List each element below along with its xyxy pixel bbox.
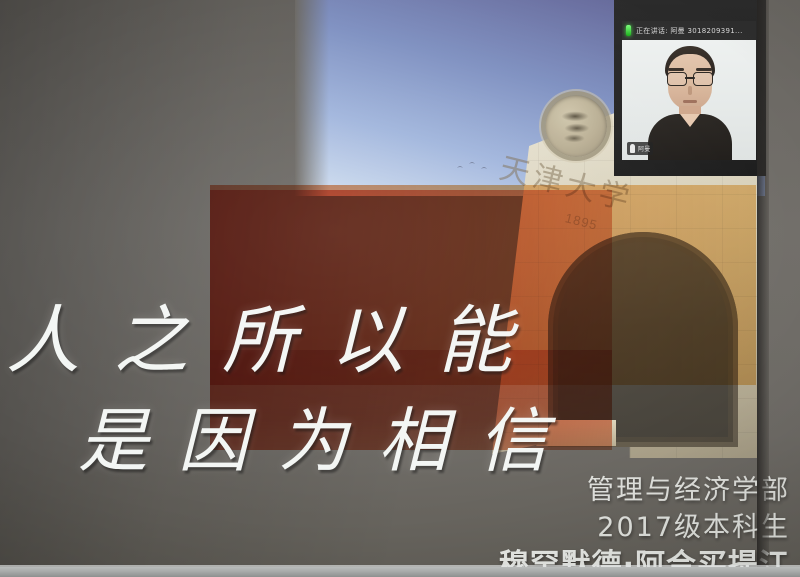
speaker-status-bar: 正在讲话: 阿曼 3018209391...: [622, 21, 756, 40]
speaker-status-text: 正在讲话: 阿曼 3018209391...: [636, 26, 743, 36]
headline-line-1: 人之所以能: [6, 281, 546, 388]
participant-name-badge: 阿曼: [627, 142, 653, 155]
participant-video-tile[interactable]: 阿曼: [622, 40, 756, 160]
glasses-icon: [667, 72, 713, 84]
projected-slide-screenshot: 天津大学 1895 人之所以能 是因为相信 管理与经济学部 2017级本科生 穆…: [0, 0, 800, 577]
participant-name-label: 阿曼: [638, 144, 650, 153]
screen-bottom-frame: [0, 567, 800, 577]
participant-brow-left: [668, 68, 684, 71]
headline-line-2: 是因为相信: [78, 385, 578, 486]
emblem-carving: [554, 104, 598, 148]
microphone-icon: [630, 144, 635, 153]
video-panel-edge: [757, 0, 769, 577]
participant-brow-right: [696, 68, 712, 71]
sky-left-fade: [295, 0, 329, 196]
mic-active-icon: [626, 25, 631, 36]
university-emblem-icon: [545, 95, 607, 157]
birds-silhouette-icon: [455, 160, 495, 174]
participant-mouth: [683, 100, 697, 103]
participant-nose: [688, 86, 692, 95]
